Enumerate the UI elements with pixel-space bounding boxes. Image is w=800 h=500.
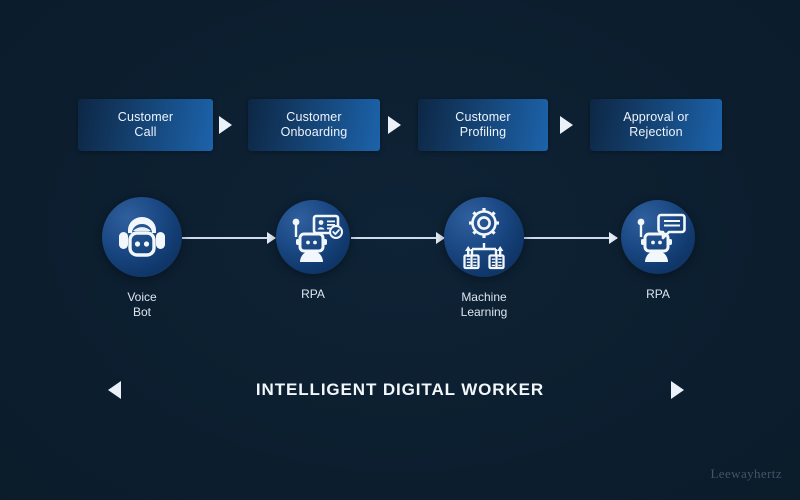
- gear-documents-hierarchy-icon: [444, 197, 524, 277]
- diagram-canvas: Customer Call Customer Onboarding Custom…: [0, 0, 800, 500]
- triangle-left-icon: [108, 381, 121, 399]
- banner-bar[interactable]: INTELLIGENT DIGITAL WORKER: [133, 369, 667, 411]
- process-flow-row: Customer Call Customer Onboarding Custom…: [0, 99, 800, 151]
- connector-arrow-2: [351, 237, 444, 239]
- process-box-label: Customer Call: [118, 110, 173, 141]
- process-box-label: Customer Profiling: [455, 110, 510, 141]
- node-label: Voice Bot: [102, 290, 182, 319]
- arrowhead-icon: [609, 232, 618, 244]
- node-label: RPA: [273, 287, 353, 302]
- robot-id-card-verified-icon: [276, 200, 350, 274]
- process-box-customer-profiling[interactable]: Customer Profiling: [418, 99, 548, 151]
- node-rpa-onboarding[interactable]: RPA: [273, 200, 353, 302]
- node-rpa-response[interactable]: RPA: [618, 200, 698, 302]
- process-box-customer-call[interactable]: Customer Call: [78, 99, 213, 151]
- play-triangle-icon-2: [388, 116, 401, 134]
- node-machine-learning[interactable]: Machine Learning: [444, 200, 524, 319]
- node-label: RPA: [618, 287, 698, 302]
- watermark: Leewayhertz: [710, 466, 782, 482]
- node-label: Machine Learning: [444, 290, 524, 319]
- node-icon-circle: [276, 200, 350, 274]
- voice-bot-robot-headphones-icon: [102, 197, 182, 277]
- connector-arrow-3: [524, 237, 617, 239]
- play-triangle-icon-1: [219, 116, 232, 134]
- process-box-label: Customer Onboarding: [281, 110, 348, 141]
- process-box-label: Approval or Rejection: [623, 110, 689, 141]
- banner-title: INTELLIGENT DIGITAL WORKER: [256, 380, 544, 400]
- triangle-right-icon: [671, 381, 684, 399]
- node-icon-circle: [102, 197, 182, 277]
- intelligent-digital-worker-banner: INTELLIGENT DIGITAL WORKER: [0, 369, 800, 411]
- agent-node-row: Voice Bot: [0, 200, 800, 340]
- process-box-approval-or-rejection[interactable]: Approval or Rejection: [590, 99, 722, 151]
- connector-arrow-1: [182, 237, 275, 239]
- process-box-customer-onboarding[interactable]: Customer Onboarding: [248, 99, 380, 151]
- node-voice-bot[interactable]: Voice Bot: [102, 200, 182, 319]
- node-icon-circle: [621, 200, 695, 274]
- robot-chat-bubble-icon: [621, 200, 695, 274]
- node-icon-circle: [444, 197, 524, 277]
- play-triangle-icon-3: [560, 116, 573, 134]
